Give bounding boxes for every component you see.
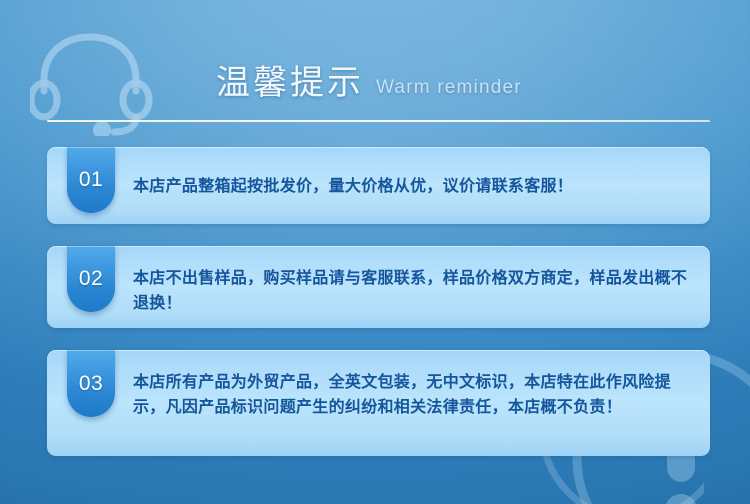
note-number-badge: 03	[67, 350, 115, 417]
note-number-badge: 01	[67, 147, 115, 213]
list-item: 01 本店产品整箱起按批发价，量大价格从优，议价请联系客服！	[47, 147, 710, 224]
header-divider	[47, 120, 710, 122]
note-text: 本店不出售样品，购买样品请与客服联系，样品价格双方商定，样品发出概不退换！	[115, 246, 710, 315]
note-number-badge: 02	[67, 246, 115, 312]
note-text: 本店所有产品为外贸产品，全英文包装，无中文标识，本店特在此作风险提示，凡因产品标…	[115, 350, 710, 419]
page-title-en: Warm reminder	[376, 77, 522, 102]
list-item: 03 本店所有产品为外贸产品，全英文包装，无中文标识，本店特在此作风险提示，凡因…	[47, 350, 710, 456]
list-item: 02 本店不出售样品，购买样品请与客服联系，样品价格双方商定，样品发出概不退换！	[47, 246, 710, 328]
note-text: 本店产品整箱起按批发价，量大价格从优，议价请联系客服！	[115, 147, 710, 198]
notes-list: 01 本店产品整箱起按批发价，量大价格从优，议价请联系客服！ 02 本店不出售样…	[47, 147, 710, 456]
poster-header: 温馨提示 Warm reminder	[0, 0, 750, 140]
page-title: 温馨提示 Warm reminder	[216, 64, 522, 102]
page-title-cn: 温馨提示	[216, 64, 364, 102]
warm-reminder-poster: 温馨提示 Warm reminder 01 本店产品整箱起按批发价，量大价格从优…	[0, 0, 750, 504]
